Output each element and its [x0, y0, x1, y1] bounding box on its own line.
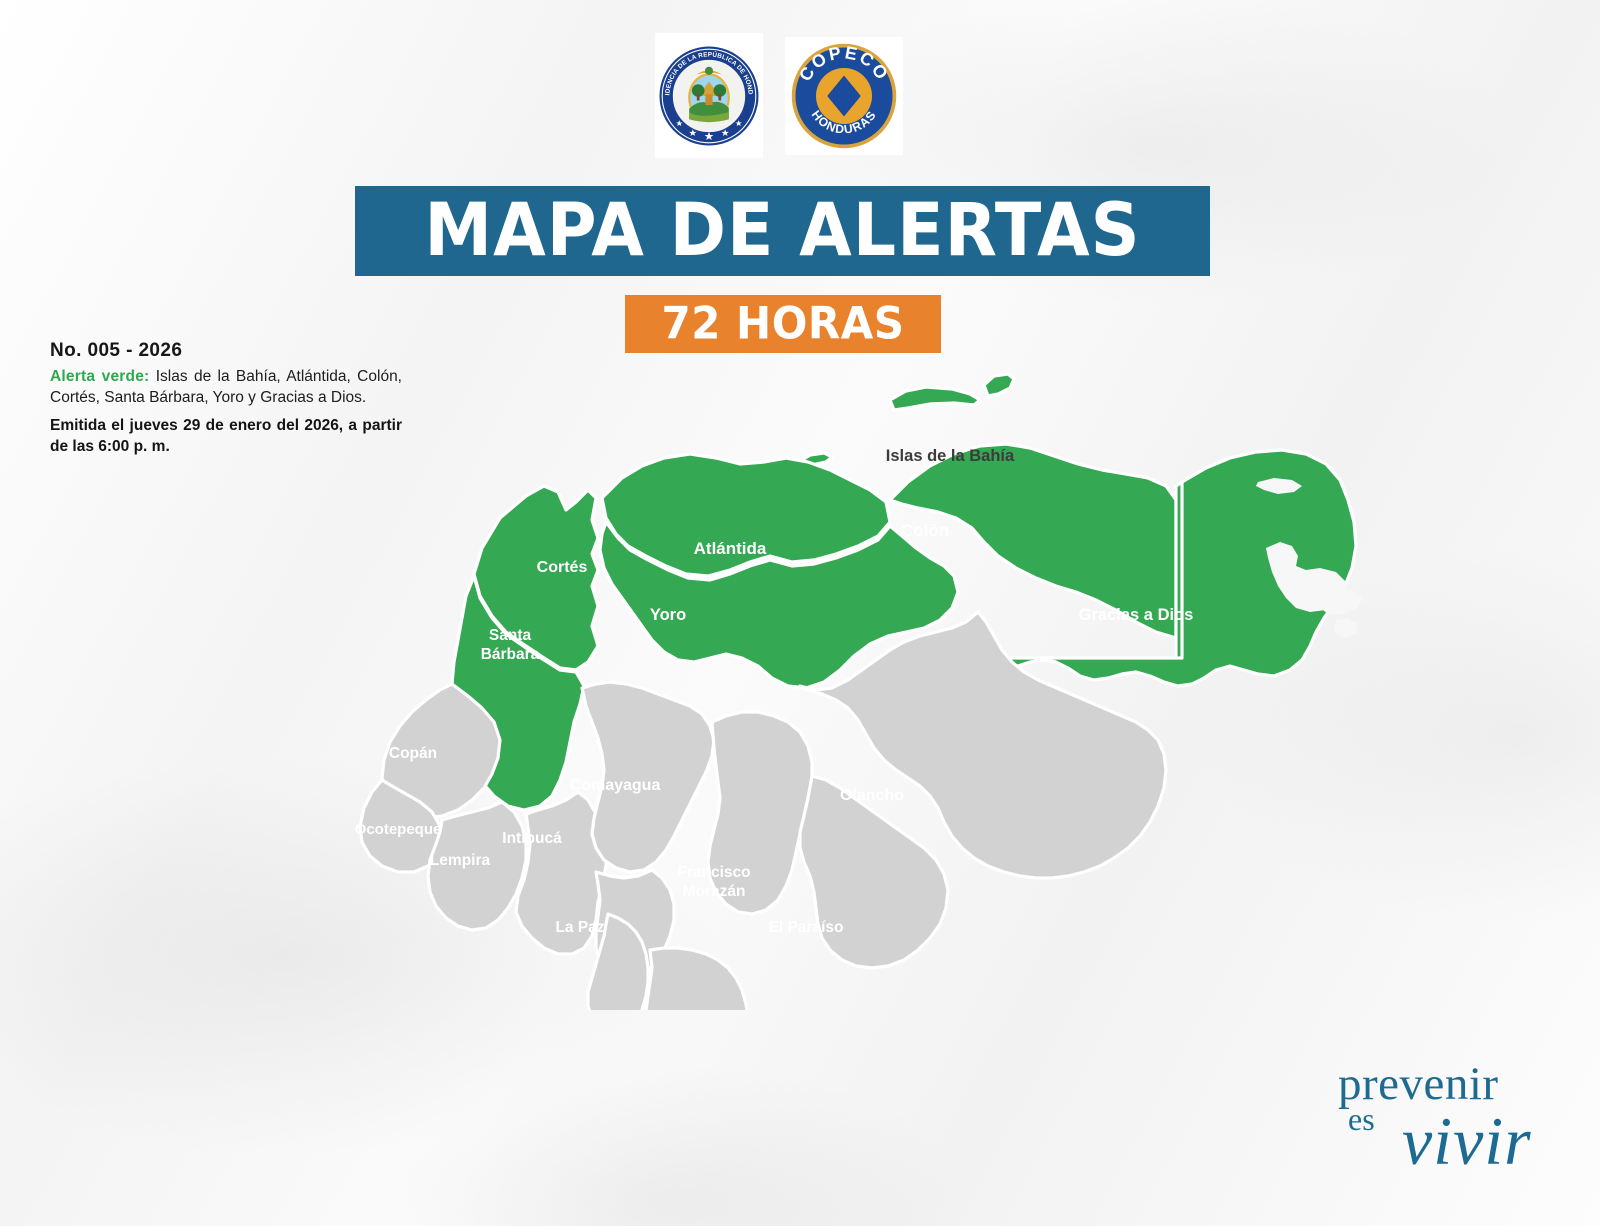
- label-islas-de-la-bahia: Islas de la Bahía: [886, 447, 1015, 465]
- slogan-line-3: vivir: [1402, 1107, 1532, 1175]
- label-cortes: Cortés: [537, 559, 588, 576]
- label-copan: Copán: [389, 745, 437, 762]
- header-logos: PRESIDENCIA DE LA REPÚBLICA DE HONDURAS: [655, 33, 920, 158]
- alert-number: No. 005 - 2026: [50, 340, 402, 362]
- slogan-line-2: es: [1348, 1103, 1375, 1135]
- map-svg: Islas de la Bahía Cortés Atlántida Colón…: [330, 370, 1370, 1010]
- dept-choluteca[interactable]: [646, 948, 748, 1010]
- honduras-alert-map: Islas de la Bahía Cortés Atlántida Colón…: [330, 370, 1370, 1010]
- page-title: MAPA DE ALERTAS: [424, 194, 1140, 267]
- title-banner: MAPA DE ALERTAS: [355, 186, 1210, 276]
- slogan-prevenir-es-vivir: prevenir es vivir: [1330, 1055, 1570, 1185]
- alert-level-label: Alerta verde:: [50, 368, 149, 385]
- dept-el-paraiso[interactable]: [800, 776, 948, 968]
- label-la-paz: La Paz: [555, 919, 604, 936]
- label-comayagua: Comayagua: [570, 777, 661, 794]
- label-atlantida: Atlántida: [694, 539, 767, 558]
- subtitle-banner: 72 HORAS: [625, 295, 941, 353]
- copeco-logo: COPECO HONDURAS: [785, 37, 903, 155]
- label-el-paraiso: El Paraíso: [769, 919, 844, 936]
- presidencia-logo: PRESIDENCIA DE LA REPÚBLICA DE HONDURAS: [655, 33, 763, 158]
- copeco-seal-icon: COPECO HONDURAS: [788, 40, 900, 152]
- label-lempira: Lempira: [430, 852, 491, 869]
- label-gracias-a-dios: Gracias a Dios: [1079, 606, 1194, 624]
- label-olancho: Olancho: [840, 787, 904, 804]
- label-colon: Colón: [901, 521, 949, 540]
- label-yoro: Yoro: [650, 606, 686, 624]
- label-valle: Valle: [615, 1009, 651, 1010]
- label-ocotepeque: Ocotepeque: [355, 821, 442, 838]
- presidencia-seal-icon: PRESIDENCIA DE LA REPÚBLICA DE HONDURAS: [655, 42, 763, 150]
- label-intibuca: Intibucá: [502, 830, 562, 847]
- page-subtitle: 72 HORAS: [661, 302, 904, 346]
